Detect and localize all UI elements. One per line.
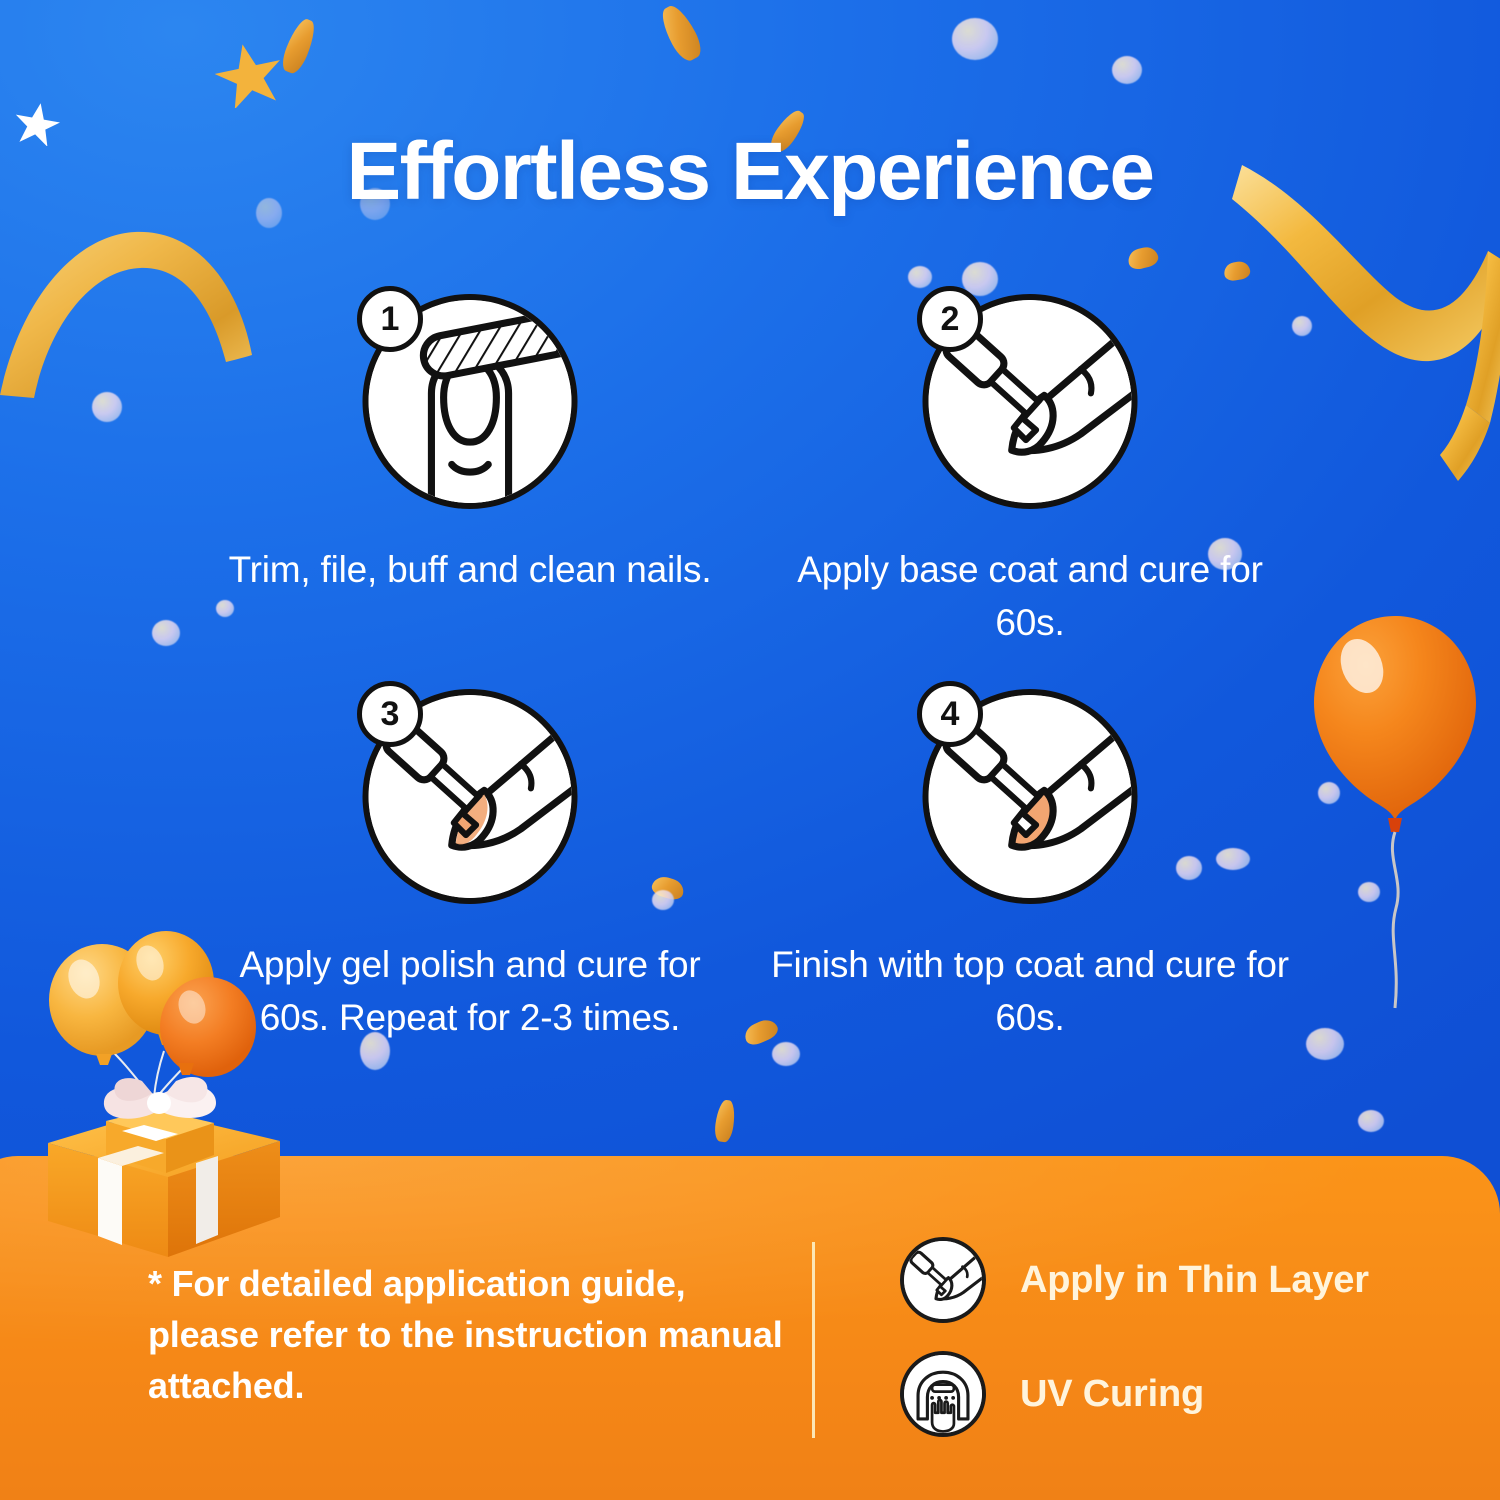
gold-star-icon (215, 42, 283, 108)
confetti-ribbon (656, 1, 706, 64)
footer-badge-uv-curing-label: UV Curing (1020, 1373, 1204, 1416)
step-1: 1 Trim, file, buff and clean nails. (210, 286, 730, 597)
balloon-orange-right (1300, 608, 1490, 1028)
footer-badge-thin-layer-label: Apply in Thin Layer (1020, 1259, 1369, 1302)
step-4-caption: Finish with top coat and cure for 60s. (770, 939, 1290, 1044)
infographic-canvas: Effortless Experience (0, 0, 1500, 1500)
footer-badge-thin-layer: Apply in Thin Layer (900, 1232, 1460, 1328)
step-4-badge: 4 (917, 681, 983, 747)
step-1-icon-wrap: 1 (210, 286, 730, 526)
footer-divider (812, 1242, 815, 1438)
footer-note: * For detailed application guide, please… (148, 1258, 788, 1411)
confetti-dot (952, 18, 998, 60)
page-title: Effortless Experience (0, 131, 1500, 213)
thin-layer-brush-icon (900, 1237, 986, 1323)
confetti-dot (1306, 1028, 1344, 1060)
step-3-icon-wrap: 3 (210, 681, 730, 921)
confetti-ribbon (1126, 245, 1160, 272)
uv-lamp-icon (900, 1351, 986, 1437)
confetti-dot (216, 600, 234, 617)
step-1-badge: 1 (357, 286, 423, 352)
step-4-icon-wrap: 4 (770, 681, 1290, 921)
step-2-caption: Apply base coat and cure for 60s. (770, 544, 1290, 649)
confetti-dot (92, 392, 122, 422)
footer-badges: Apply in Thin Layer (900, 1232, 1460, 1460)
step-2-badge: 2 (917, 286, 983, 352)
confetti-dot (152, 620, 180, 646)
confetti-ribbon (713, 1099, 737, 1143)
step-4: 4 Finish with top coat and cure for 60s. (770, 681, 1290, 1044)
confetti-dot (772, 1042, 800, 1066)
step-1-caption: Trim, file, buff and clean nails. (210, 544, 730, 597)
confetti-dot (1112, 56, 1142, 84)
confetti-dot (1292, 316, 1312, 336)
step-3-number: 3 (381, 695, 400, 734)
confetti-dot (908, 266, 932, 288)
step-2-number: 2 (941, 300, 960, 339)
step-1-number: 1 (381, 300, 400, 339)
step-4-number: 4 (941, 695, 960, 734)
step-3-badge: 3 (357, 681, 423, 747)
step-2: 2 Apply base coat and cure for 60s. (770, 286, 1290, 649)
gift-box-icon (18, 905, 318, 1265)
step-2-icon-wrap: 2 (770, 286, 1290, 526)
footer-badge-uv-curing: UV Curing (900, 1346, 1460, 1442)
confetti-dot (1358, 1110, 1384, 1132)
confetti-ribbon (1223, 260, 1252, 282)
confetti-ribbon (278, 16, 319, 76)
